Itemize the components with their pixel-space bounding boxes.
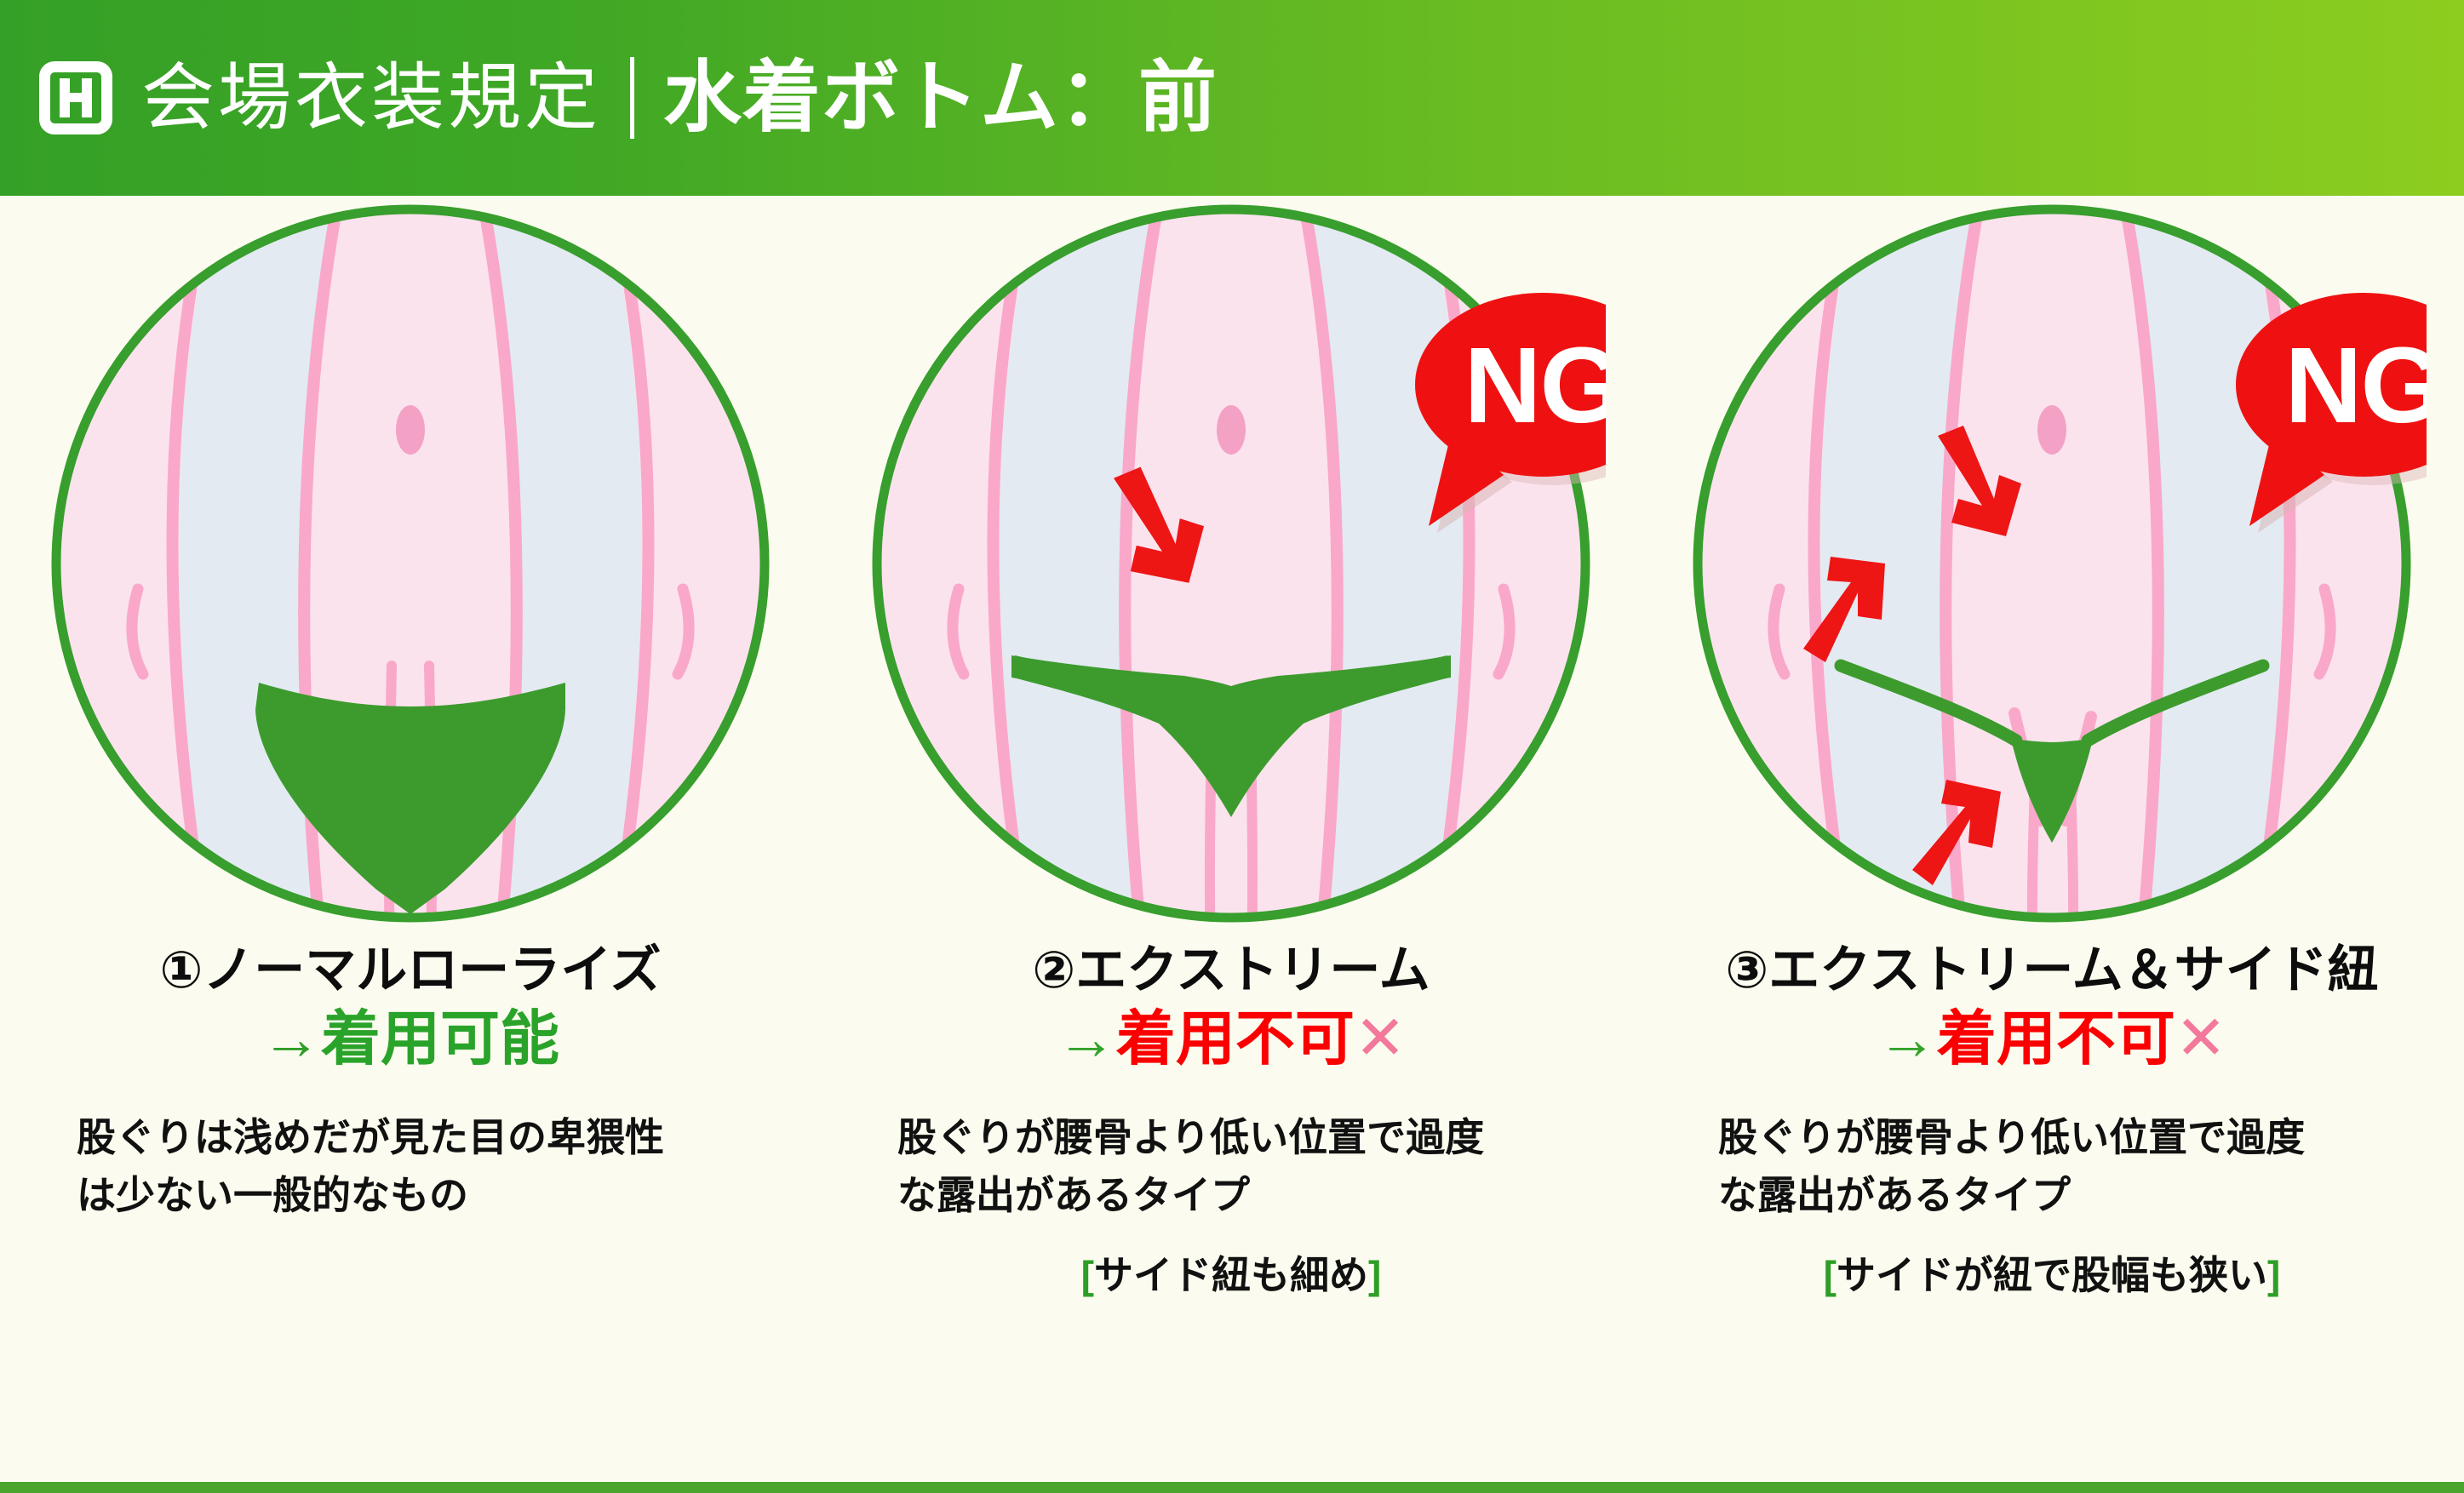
- description-line: 股ぐりが腰骨より低い位置で過度: [1718, 1108, 2427, 1166]
- svg-text:NG: NG: [1464, 325, 1607, 445]
- variant-verdict: →着用不可✕: [1877, 1005, 2226, 1073]
- description-line: な露出があるタイプ: [897, 1166, 1606, 1224]
- variant-column-extreme: NG ②エクストリーム →着用不可✕ 股ぐりが腰骨より低い位置で過度 な露出があ…: [821, 196, 1642, 1473]
- arrow-icon: →: [261, 1005, 321, 1072]
- variant-title: ①ノーマルローライズ: [159, 943, 661, 998]
- variant-note: [サイド紐も細め]: [857, 1244, 1606, 1301]
- arrow-icon: →: [1057, 1005, 1116, 1072]
- description-line: 股ぐりが腰骨より低い位置で過度: [897, 1108, 1606, 1166]
- arrow-icon: →: [1877, 1005, 1937, 1072]
- x-icon: ✕: [1355, 1004, 1406, 1073]
- x-icon: ✕: [2175, 1004, 2226, 1073]
- note-text: サイド紐も細め: [1094, 1253, 1368, 1297]
- variant-description: 股ぐりが腰骨より低い位置で過度 な露出があるタイプ: [857, 1108, 1606, 1224]
- verdict-text: 着用不可: [1116, 1005, 1355, 1072]
- note-bracket-close: ]: [2267, 1253, 2280, 1297]
- illustration-normal-lowrise: [36, 189, 785, 938]
- logo-bar-right: [82, 78, 92, 117]
- note-bracket-close: ]: [1368, 1253, 1381, 1297]
- header-divider: [630, 57, 634, 139]
- variant-columns: ①ノーマルローライズ →着用可能 股ぐりは浅めだが見た目の卑猥性 は少ない一般的…: [0, 196, 2464, 1473]
- illustration-extreme-side-string: NG: [1677, 189, 2427, 938]
- variant-verdict: →着用可能: [261, 1005, 559, 1073]
- variant-column-normal-lowrise: ①ノーマルローライズ →着用可能 股ぐりは浅めだが見た目の卑猥性 は少ない一般的…: [0, 196, 821, 1473]
- variant-title: ③エクストリーム＆サイド紐: [1725, 943, 2378, 998]
- note-text: サイドが紐で股幅も狭い: [1837, 1253, 2267, 1297]
- poster-root: 会場衣装規定 水着ボトム：前: [0, 0, 2464, 1493]
- variant-verdict: →着用不可✕: [1057, 1005, 1406, 1073]
- variant-title: ②エクストリーム: [1032, 943, 1430, 998]
- bracket-h-logo-icon: [39, 61, 112, 134]
- note-bracket-open: [: [1081, 1253, 1094, 1297]
- variant-description: 股ぐりが腰骨より低い位置で過度 な露出があるタイプ: [1677, 1108, 2427, 1224]
- variant-description: 股ぐりは浅めだが見た目の卑猥性 は少ない一般的なもの: [36, 1108, 785, 1224]
- svg-text:NG: NG: [2285, 325, 2427, 445]
- bottom-rule: [0, 1482, 2464, 1493]
- verdict-text: 着用不可: [1937, 1005, 2175, 1072]
- variant-column-extreme-side-string: NG ③エクストリーム＆サイド紐 →着用不可✕ 股ぐりが腰骨より低い位置で過度 …: [1642, 196, 2462, 1473]
- note-bracket-open: [: [1824, 1253, 1837, 1297]
- variant-note: [サイドが紐で股幅も狭い]: [1677, 1244, 2427, 1301]
- page-header: 会場衣装規定 水着ボトム：前: [0, 0, 2464, 196]
- description-line: 股ぐりは浅めだが見た目の卑猥性: [77, 1108, 785, 1166]
- illustration-extreme: NG: [857, 189, 1606, 938]
- description-line: な露出があるタイプ: [1718, 1166, 2427, 1224]
- page-title: 会場衣装規定: [141, 61, 601, 134]
- description-line: は少ない一般的なもの: [77, 1166, 785, 1224]
- page-subtitle: 水着ボトム：前: [663, 59, 1218, 137]
- verdict-text: 着用可能: [321, 1005, 559, 1072]
